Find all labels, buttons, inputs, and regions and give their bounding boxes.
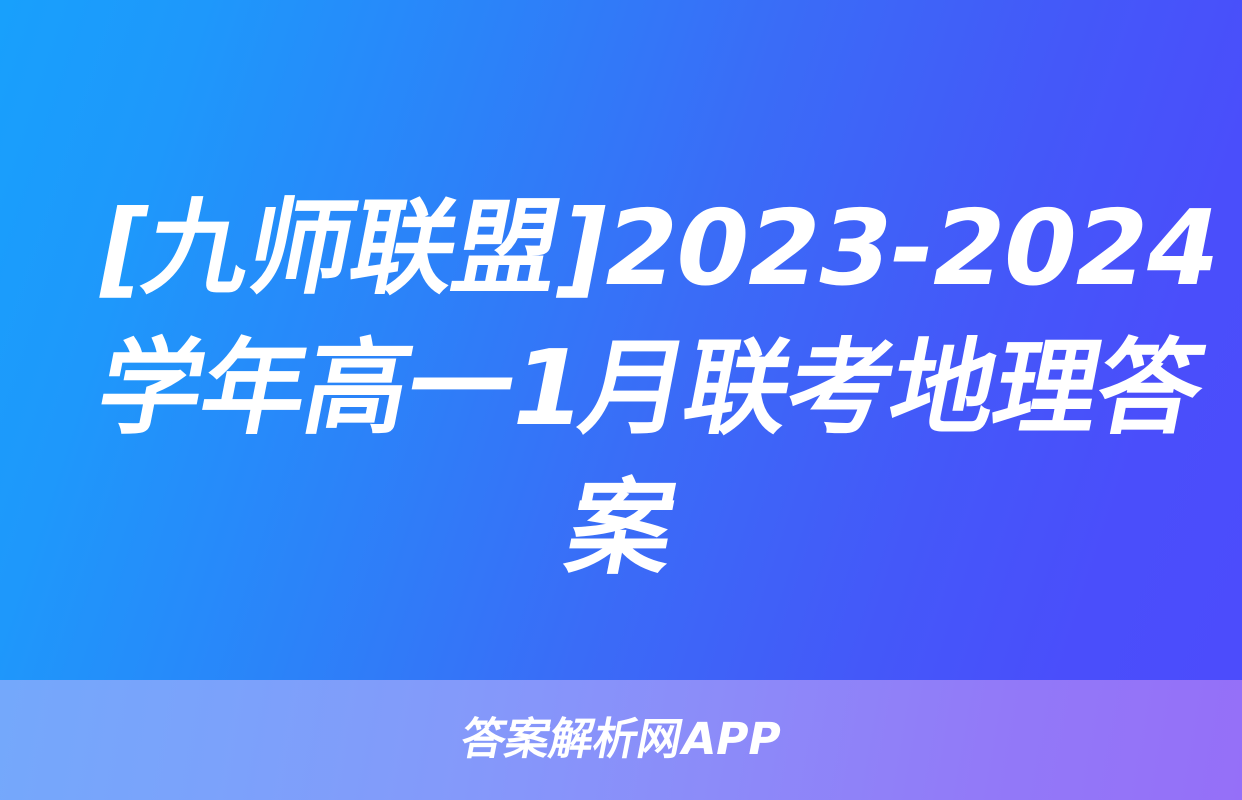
title-line-3: 案 <box>86 458 1155 598</box>
cover-card: [九师联盟]2023-2024 学年高一1月联考地理答 案 答案解析网APP <box>0 0 1242 800</box>
app-watermark-label: 答案解析网APP <box>0 712 1242 768</box>
title-line-1: [九师联盟]2023-2024 <box>86 178 1155 318</box>
title-line-2: 学年高一1月联考地理答 <box>86 318 1155 458</box>
page-title: [九师联盟]2023-2024 学年高一1月联考地理答 案 <box>0 178 1242 598</box>
